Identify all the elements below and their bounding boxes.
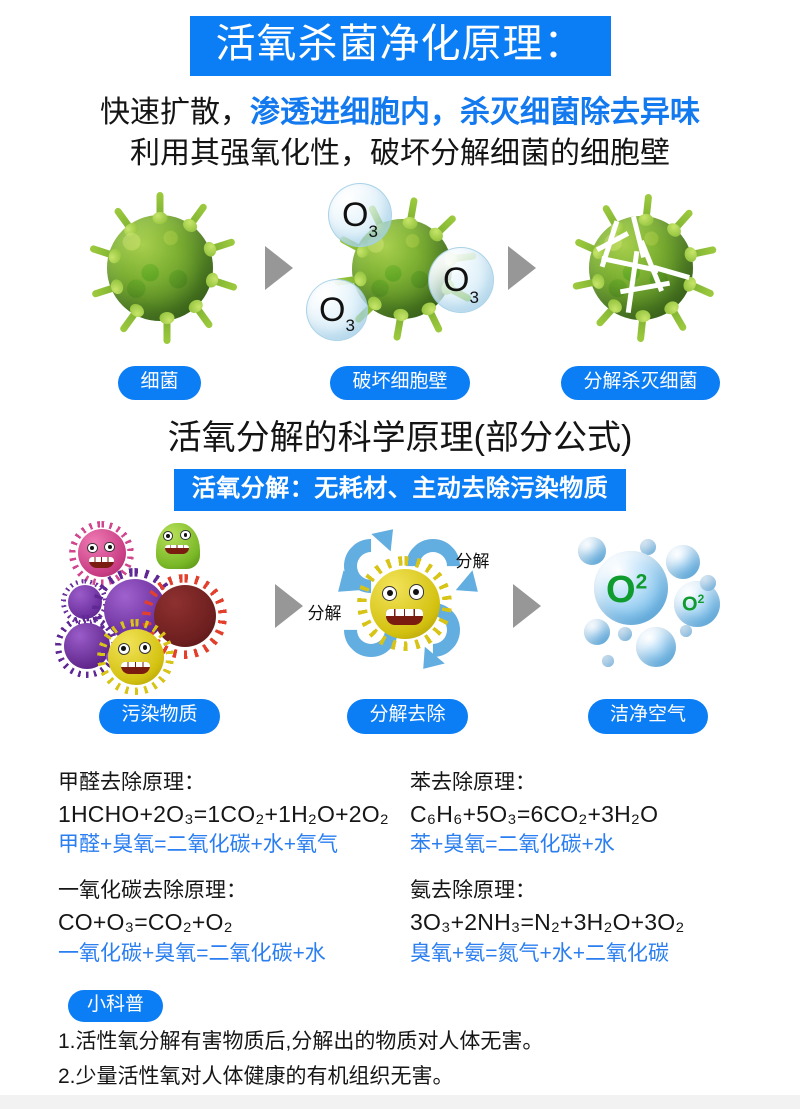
label-decompose-kill-bacteria[interactable]: 分解杀灭细菌 <box>561 366 719 401</box>
bubble-icon <box>578 537 606 565</box>
decompose-label-left: 分解 <box>308 599 342 624</box>
illus-destroyed-bacteria <box>536 181 746 356</box>
virus-icon <box>107 215 213 321</box>
notes-badge-container: 小科普 <box>58 990 742 1022</box>
process2-labels: 污染物质 分解去除 洁净空气 <box>0 699 800 734</box>
arrow-right-icon-2 <box>508 246 536 290</box>
formula-title: 氨去除原理： <box>410 876 742 906</box>
page-root: 活氧杀菌净化原理： 快速扩散，渗透进细胞内，杀灭细菌除去异味 利用其强氧化性，破… <box>0 0 800 1109</box>
formula-block-formaldehyde: 甲醛去除原理： 1HCHO+2O₃=1CO₂+1H₂O+2O₂ 甲醛+臭氧=二氧… <box>58 768 400 866</box>
o2-small-label: O2 <box>682 593 704 615</box>
label-pollutants[interactable]: 污染物质 <box>99 699 219 734</box>
formula-block-ammonia: 氨去除原理： 3O₃+2NH₃=N₂+3H₂O+3O₂ 臭氧+氨=氮气+水+二氧… <box>400 876 742 974</box>
subtitle-line-1: 快速扩散，渗透进细胞内，杀灭细菌除去异味 <box>0 92 800 133</box>
notes-section: 小科普 1.活性氧分解有害物质后,分解出的物质对人体无害。 2.少量活性氧对人体… <box>0 990 800 1093</box>
note-line-1: 1.活性氧分解有害物质后,分解出的物质对人体无害。 <box>58 1026 742 1058</box>
subtitle-block: 快速扩散，渗透进细胞内，杀灭细菌除去异味 利用其强氧化性，破坏分解细菌的细胞壁 <box>0 92 800 175</box>
formula-chinese: 甲醛+臭氧=二氧化碳+水+氧气 <box>58 830 400 860</box>
process-illustration-row-2: 分解 分解 O2 <box>0 521 800 691</box>
bubble-icon <box>584 619 610 645</box>
germ-yellow-icon <box>370 569 440 639</box>
ozone-bubble-icon: O3 <box>306 279 368 341</box>
bubble-icon <box>602 655 614 667</box>
label-cell-wall-destroy[interactable]: 破坏细胞壁 <box>330 366 469 401</box>
formula-equation: 3O₃+2NH₃=N₂+3H₂O+3O₂ <box>410 906 742 939</box>
formula-title: 一氧化碳去除原理： <box>58 876 400 906</box>
broken-virus-icon <box>589 216 693 320</box>
bubble-icon <box>666 545 700 579</box>
ozone-subscript-label: 3 <box>345 317 354 334</box>
arrow-right-icon-4 <box>513 584 541 628</box>
formula-equation: 1HCHO+2O₃=1CO₂+1H₂O+2O₂ <box>58 798 400 831</box>
formula-title: 甲醛去除原理： <box>58 768 400 798</box>
subtitle-line-2: 利用其强氧化性，破坏分解细菌的细胞壁 <box>0 133 800 174</box>
decompose-label-right: 分解 <box>456 547 490 572</box>
illus-cell-wall-damage: O3 O3 O3 <box>293 181 508 356</box>
formula-block-carbon-monoxide: 一氧化碳去除原理： CO+O₃=CO₂+O₂ 一氧化碳+臭氧=二氧化碳+水 <box>58 876 400 974</box>
virus-spikes <box>107 215 213 321</box>
formula-chinese: 一氧化碳+臭氧=二氧化碳+水 <box>58 939 400 969</box>
bubble-icon <box>680 625 692 637</box>
arrow-right-icon-1 <box>265 246 293 290</box>
section2-banner-container: 活氧分解：无耗材、主动去除污染物质 <box>0 469 800 511</box>
virus-spikes <box>589 216 693 320</box>
ozone-o-label: O <box>443 263 469 297</box>
illus-pollutants <box>45 521 275 691</box>
formula-chinese: 臭氧+氨=氮气+水+二氧化碳 <box>410 939 742 969</box>
label-decompose-remove[interactable]: 分解去除 <box>347 699 467 734</box>
bubble-icon <box>618 627 632 641</box>
subtitle-line-1-blue: 渗透进细胞内，杀灭细菌除去异味 <box>250 96 700 129</box>
arrow-right-icon-3 <box>275 584 303 628</box>
ozone-bubble-icon: O3 <box>428 247 494 313</box>
label-bacteria[interactable]: 细菌 <box>118 366 200 401</box>
formula-row-1: 甲醛去除原理： 1HCHO+2O₃=1CO₂+1H₂O+2O₂ 甲醛+臭氧=二氧… <box>0 768 800 866</box>
footer-strip <box>0 1095 800 1109</box>
process1-labels: 细菌 破坏细胞壁 分解杀灭细菌 <box>0 366 800 401</box>
illus-clean-air: O2 O2 <box>541 521 756 691</box>
section2-banner: 活氧分解：无耗材、主动去除污染物质 <box>174 469 627 511</box>
section2-title: 活氧分解的科学原理(部分公式) <box>0 418 800 459</box>
formula-section: 甲醛去除原理： 1HCHO+2O₃=1CO₂+1H₂O+2O₂ 甲醛+臭氧=二氧… <box>0 768 800 975</box>
ozone-subscript-label: 3 <box>368 223 377 240</box>
illus-decomposition: 分解 分解 <box>303 521 513 691</box>
bubble-icon <box>636 627 676 667</box>
note-line-2: 2.少量活性氧对人体健康的有机组织无害。 <box>58 1061 742 1093</box>
ozone-o-label: O <box>342 198 368 232</box>
process-illustration-row-1: O3 O3 O3 <box>0 181 800 356</box>
illus-bacteria <box>55 181 265 356</box>
label-clean-air[interactable]: 洁净空气 <box>588 699 708 734</box>
formula-block-benzene: 苯去除原理： C₆H₆+5O₃=6CO₂+3H₂O 苯+臭氧=二氧化碳+水 <box>400 768 742 866</box>
ozone-subscript-label: 3 <box>469 289 478 306</box>
title-banner-container: 活氧杀菌净化原理： <box>0 0 800 76</box>
formula-equation: C₆H₆+5O₃=6CO₂+3H₂O <box>410 798 742 831</box>
formula-title: 苯去除原理： <box>410 768 742 798</box>
subtitle-line-1-black: 快速扩散， <box>100 96 250 129</box>
germ-yellow-icon <box>108 629 164 685</box>
o2-big-label: O2 <box>606 571 647 609</box>
formula-equation: CO+O₃=CO₂+O₂ <box>58 906 400 939</box>
science-tip-badge[interactable]: 小科普 <box>68 990 163 1022</box>
germ-green-icon <box>156 523 200 569</box>
page-title: 活氧杀菌净化原理： <box>190 16 611 76</box>
formula-chinese: 苯+臭氧=二氧化碳+水 <box>410 830 742 860</box>
ozone-bubble-icon: O3 <box>328 183 392 247</box>
ozone-o-label: O <box>319 293 345 327</box>
formula-row-2: 一氧化碳去除原理： CO+O₃=CO₂+O₂ 一氧化碳+臭氧=二氧化碳+水 氨去… <box>0 876 800 974</box>
